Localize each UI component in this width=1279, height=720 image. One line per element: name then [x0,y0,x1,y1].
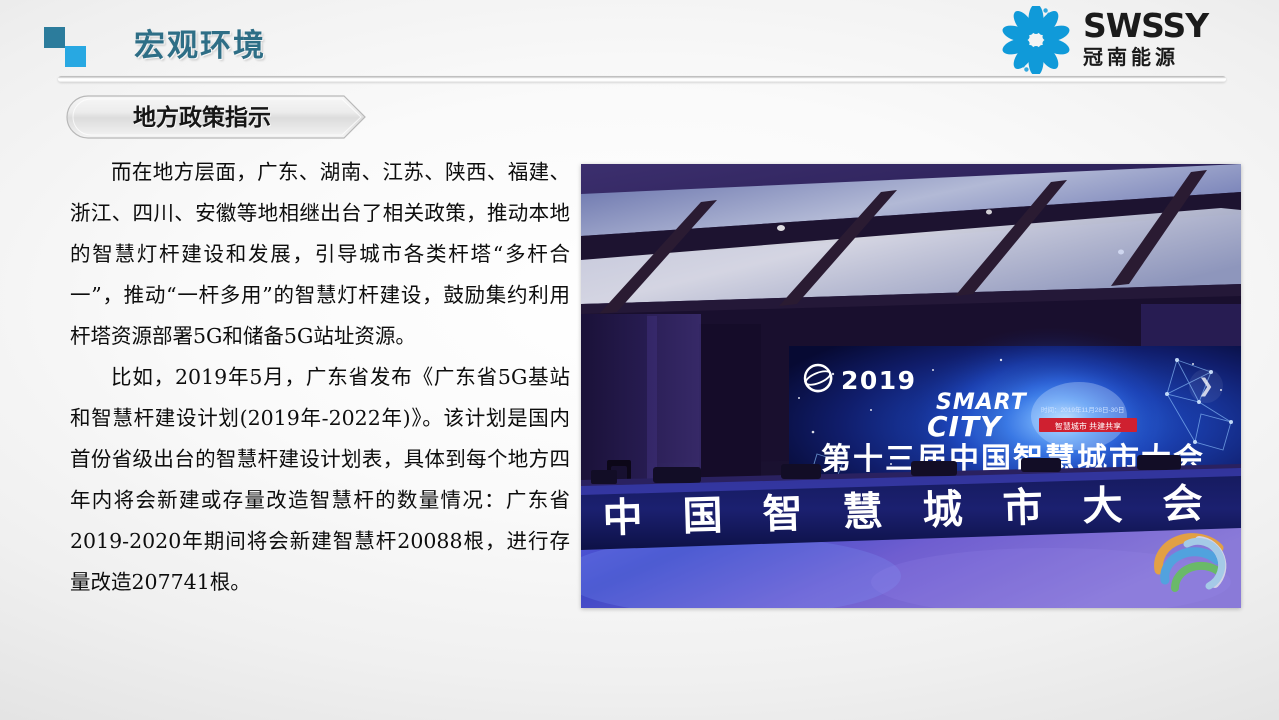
logo-wordmark: SWSSY [1083,9,1263,43]
chevron-right-icon[interactable]: ❯ [1189,369,1223,403]
section-banner: 地方政策指示 [66,95,366,139]
conference-photo-canvas: 2019 SMART CITY 时间：2019年11月28日-30日 智慧城市 … [581,164,1241,608]
screen-year: 2019 [841,366,917,395]
stage-char-4: 慧 [842,490,883,535]
section-label: 地方政策指示 [66,95,338,139]
swssy-petal-logo-icon [995,6,1077,74]
page-title: 宏观环境 [134,20,266,65]
brand-logo: SWSSY 冠南能源 [995,4,1265,76]
stage-char-2: 国 [682,494,723,539]
screen-ribbon: 智慧城市 共建共享 [1055,421,1121,431]
stage-char-3: 智 [762,492,803,537]
decorative-squares [44,27,90,67]
slide-root: 宏观环境 [0,0,1279,720]
logo-text-block: SWSSY 冠南能源 [1083,9,1263,71]
paragraph-2: 比如，2019年5月，广东省发布《广东省5G基站和智慧杆建设计划(2019年-2… [70,357,570,603]
screen-date-line: 时间：2019年11月28日-30日 [1041,405,1124,414]
stage-char-8: 会 [1162,482,1203,527]
header-divider [58,76,1226,82]
stage-char-7: 大 [1082,484,1123,529]
paragraph-1: 而在地方层面，广东、湖南、江苏、陕西、福建、浙江、四川、安徽等地相继出台了相关政… [70,152,570,357]
stage-char-1: 中 [602,496,643,541]
square-dark-icon [44,27,65,48]
conference-photo: 2019 SMART CITY 时间：2019年11月28日-30日 智慧城市 … [581,164,1241,608]
screen-city: CITY [927,410,1003,443]
square-light-icon [65,46,86,67]
logo-chinese-name: 冠南能源 [1083,45,1263,71]
stage-char-5: 城 [922,488,963,533]
body-text: 而在地方层面，广东、湖南、江苏、陕西、福建、浙江、四川、安徽等地相继出台了相关政… [70,152,570,603]
slide-header: 宏观环境 [0,0,1279,88]
stage-char-6: 市 [1002,486,1043,531]
